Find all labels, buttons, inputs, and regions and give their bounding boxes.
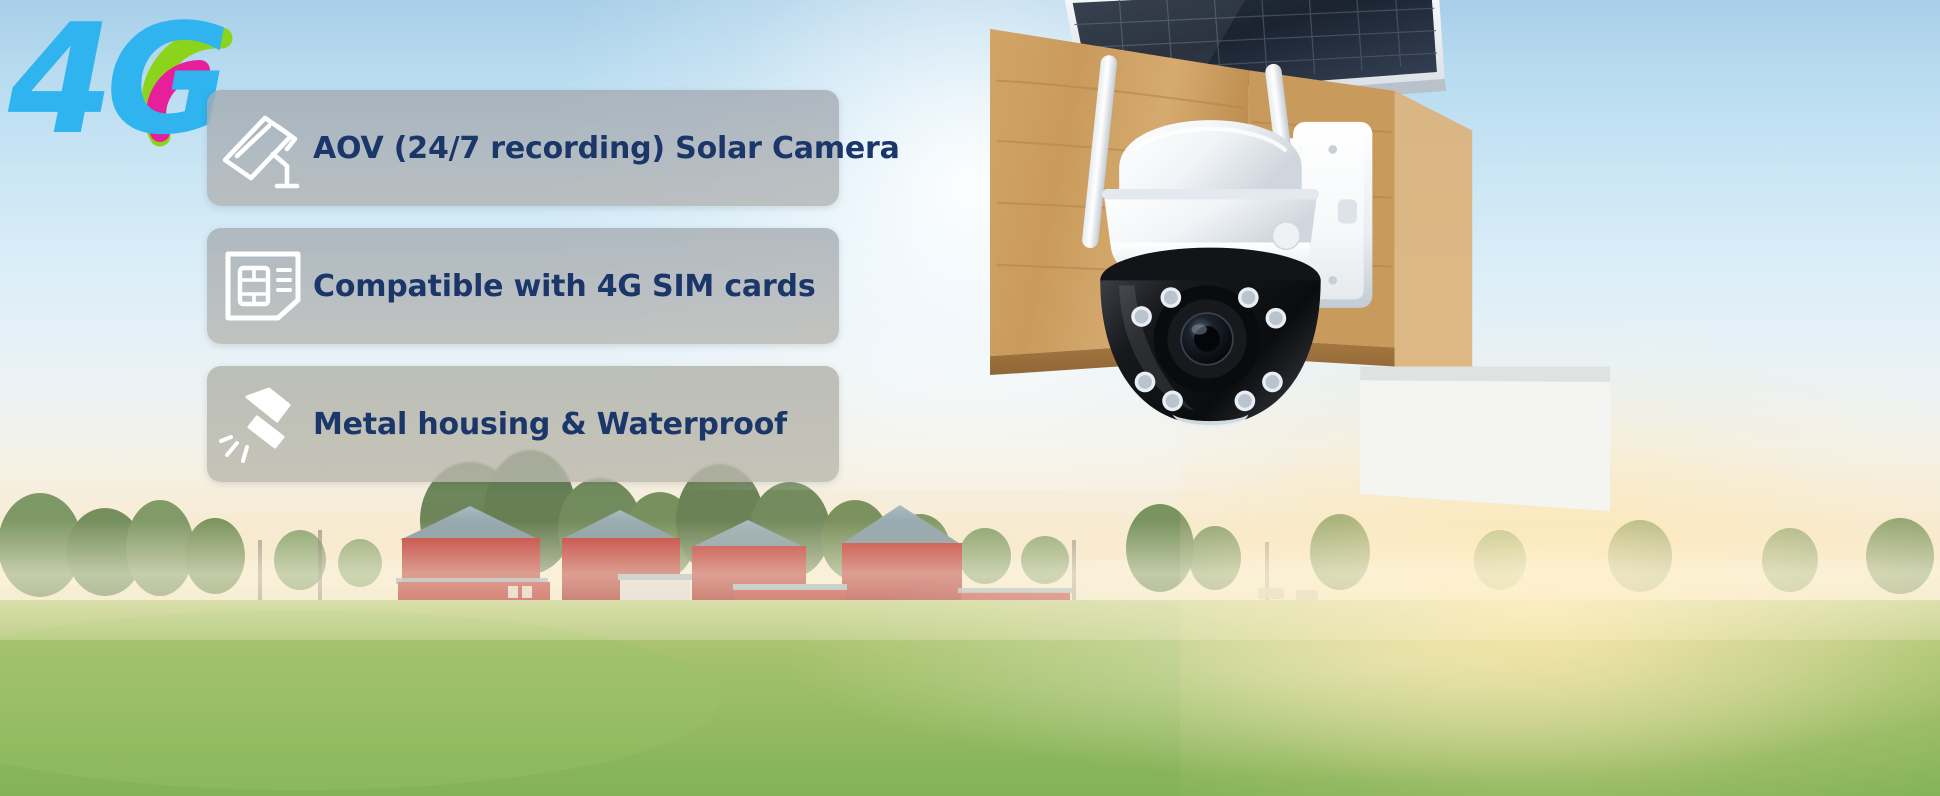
feature-label-aov-solar-camera: AOV (24/7 recording) Solar Camera [313,131,900,166]
hammer-icon [213,374,313,474]
feature-card-metal-waterproof[interactable]: Metal housing & Waterproof [207,366,839,482]
solar-ptz-security-camera [990,0,1610,570]
cctv-camera-icon [213,98,313,198]
feature-card-aov-solar-camera[interactable]: AOV (24/7 recording) Solar Camera [207,90,839,206]
product-banner: 4G [0,0,1940,796]
logo-4g: 4G [8,4,238,164]
feature-card-list: AOV (24/7 recording) Solar Camera [207,90,839,504]
feature-label-metal-waterproof: Metal housing & Waterproof [313,407,787,442]
feature-card-4g-sim-cards[interactable]: Compatible with 4G SIM cards [207,228,839,344]
logo-4g-text: 4G [8,4,225,168]
sim-card-icon [213,236,313,336]
feature-label-4g-sim-cards: Compatible with 4G SIM cards [313,269,815,304]
